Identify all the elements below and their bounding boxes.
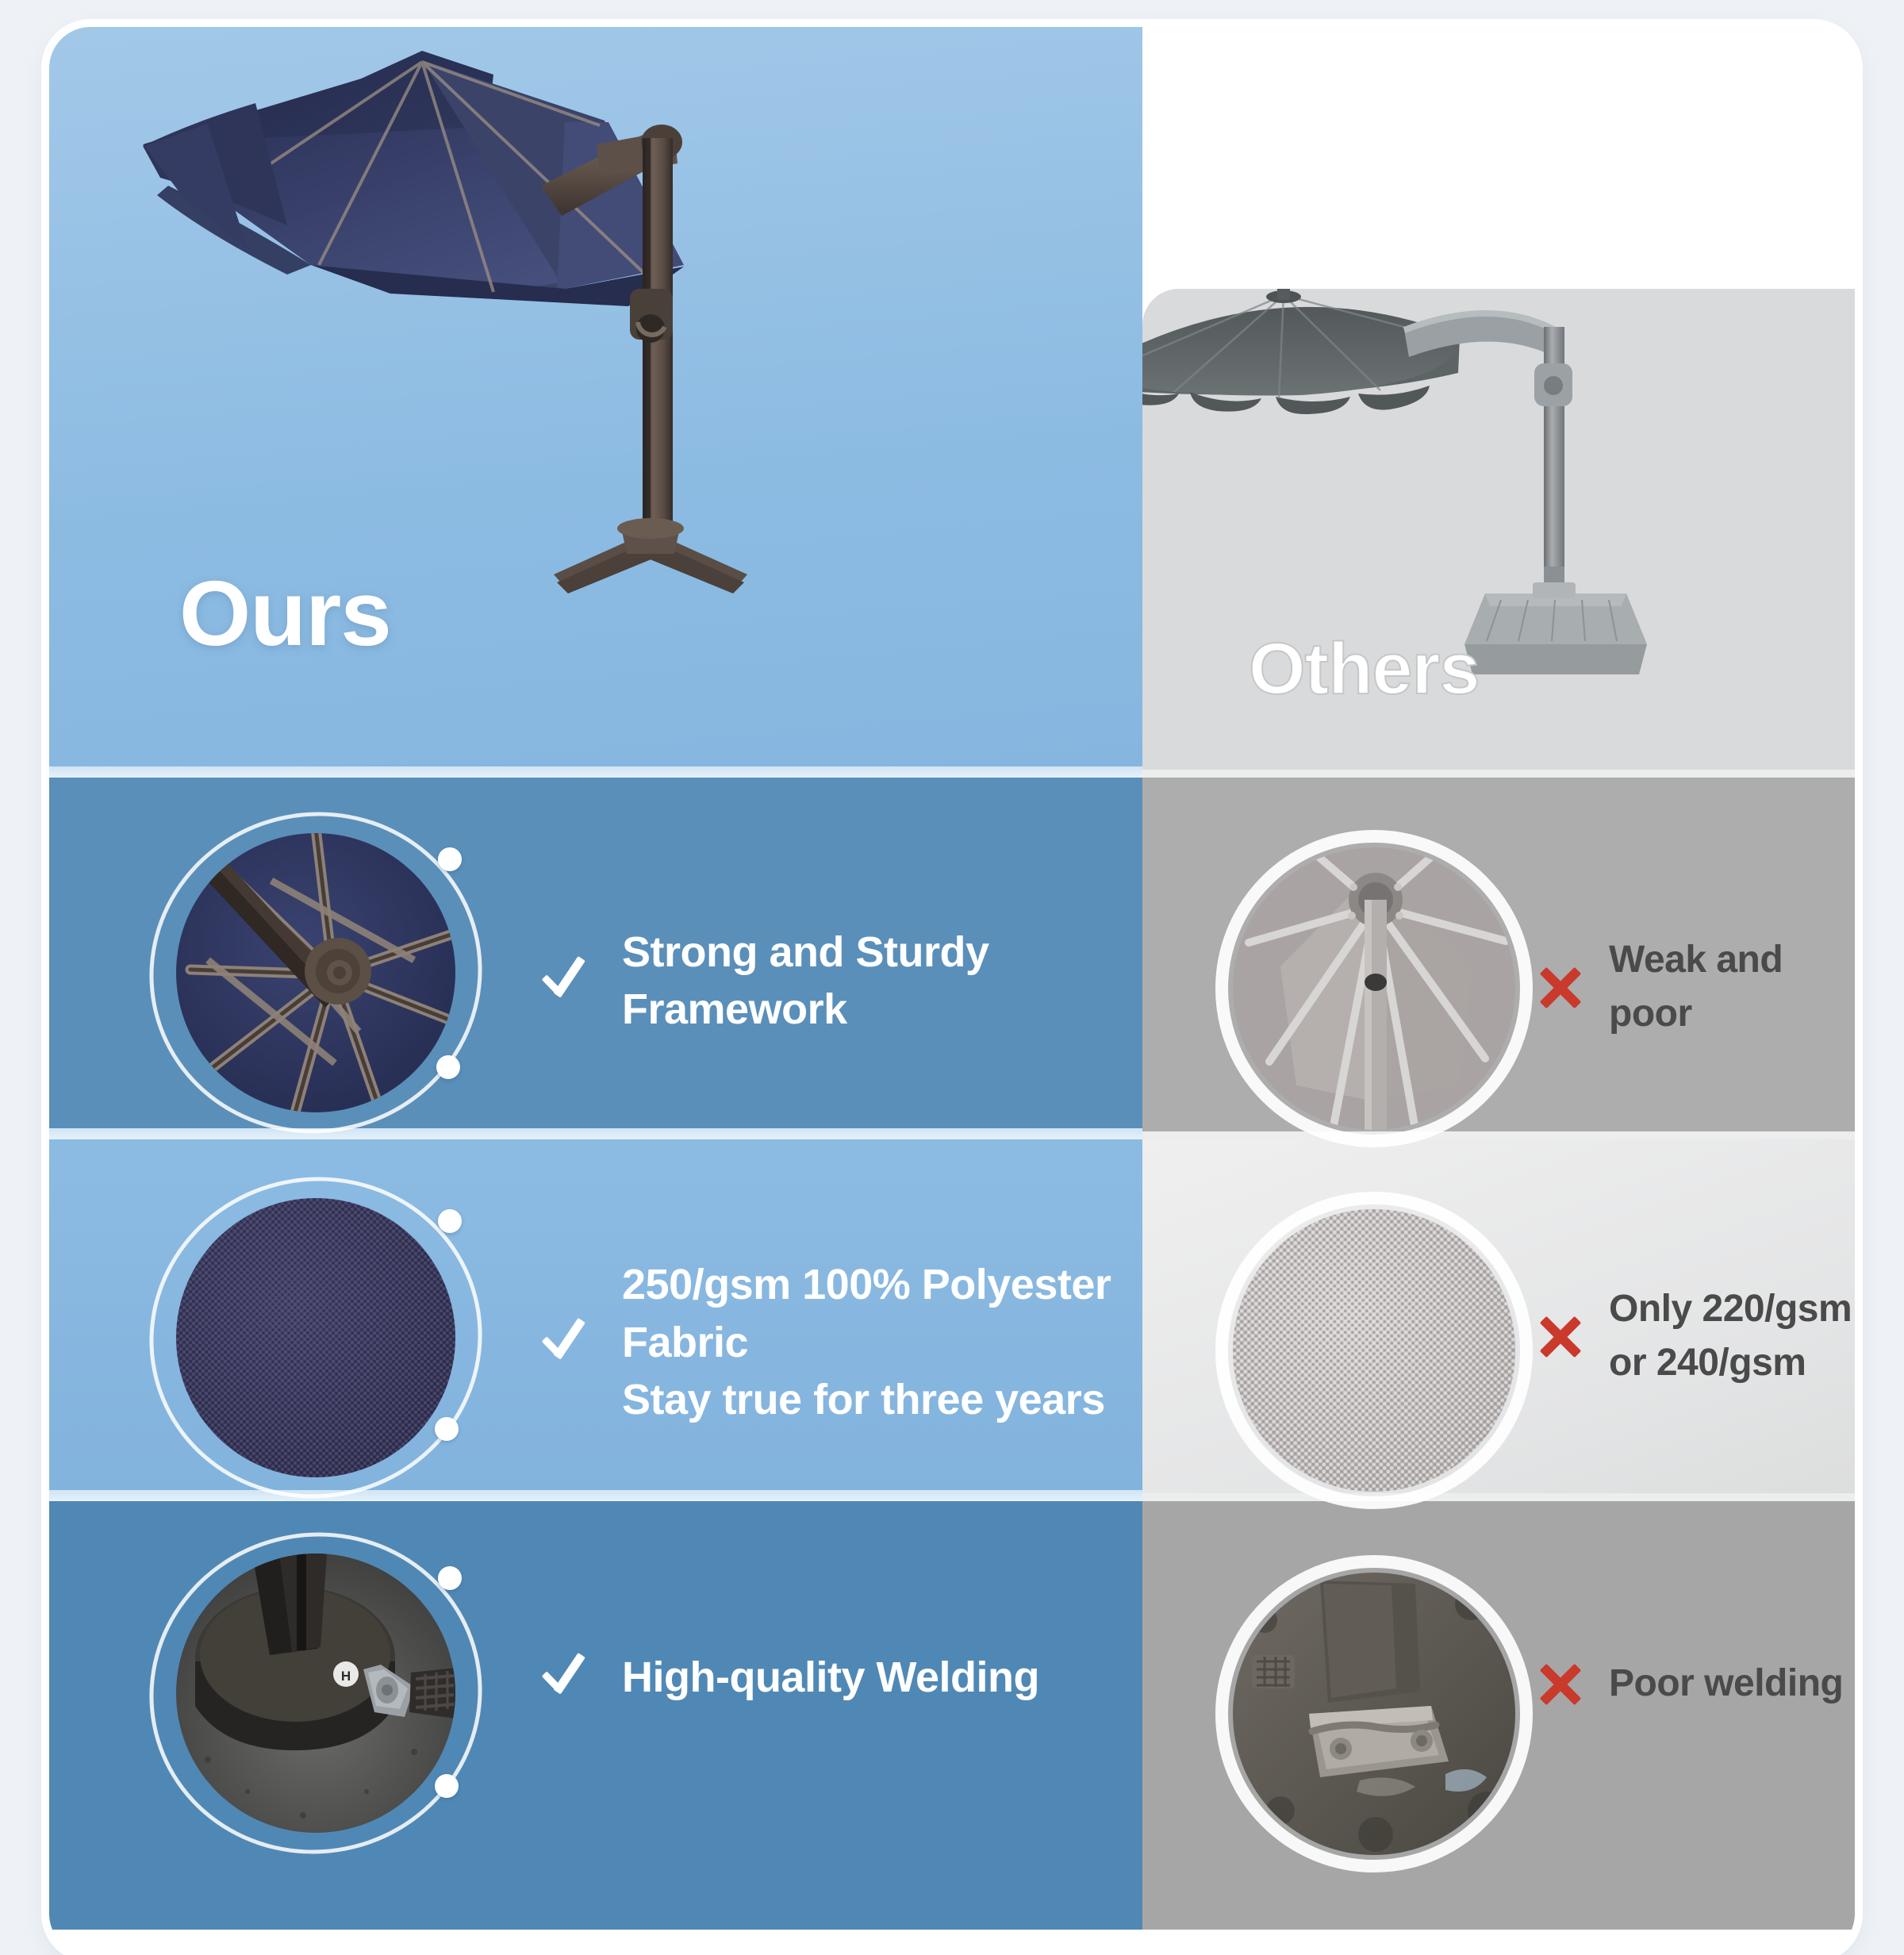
ours-fabric-image <box>149 1177 482 1498</box>
ring-dot <box>438 1566 462 1590</box>
page-title-others: Others <box>1249 628 1480 711</box>
check-icon <box>533 1643 601 1711</box>
check-icon <box>533 1308 601 1377</box>
decorative-ring <box>1215 1192 1533 1509</box>
check-icon <box>533 947 601 1015</box>
decorative-ring <box>1215 1555 1533 1872</box>
ours-welding-feature: High-quality Welding <box>533 1622 1136 1733</box>
others-framework-label: Weak and poor <box>1609 933 1783 1041</box>
others-fabric-feature: Only 220/gsm or 240/gsm <box>1533 1249 1855 1423</box>
ring-dot <box>435 1417 459 1441</box>
ours-fabric-label: 250/gsm 100% Polyester Fabric Stay true … <box>622 1256 1111 1428</box>
ours-framework-label: Strong and Sturdy Framework <box>622 924 989 1039</box>
others-welding-label: Poor welding <box>1609 1657 1843 1711</box>
ours-framework-image <box>149 812 482 1133</box>
ring-dot <box>438 1209 462 1233</box>
others-fabric-image <box>1215 1192 1533 1509</box>
ring-dot <box>435 1774 459 1798</box>
page-title-ours: Ours <box>179 560 391 666</box>
comparison-card: Strong and Sturdy Framework <box>49 27 1855 1955</box>
ours-welding-label: High-quality Welding <box>622 1649 1039 1706</box>
ours-fabric-feature: 250/gsm 100% Polyester Fabric Stay true … <box>533 1223 1152 1461</box>
ring-dot <box>438 847 462 871</box>
decorative-ring <box>115 1497 516 1889</box>
ring-dot <box>436 1055 460 1079</box>
ours-framework-feature: Strong and Sturdy Framework <box>533 878 1088 1084</box>
others-fabric-label: Only 220/gsm or 240/gsm <box>1609 1282 1852 1390</box>
others-framework-feature: Weak and poor <box>1533 900 1855 1074</box>
others-framework-image <box>1215 830 1533 1147</box>
others-welding-image <box>1215 1555 1533 1872</box>
others-welding-feature: Poor welding <box>1533 1628 1855 1739</box>
cross-icon <box>1533 959 1588 1015</box>
decorative-ring <box>1215 830 1533 1147</box>
decorative-ring <box>115 777 516 1169</box>
ours-welding-image: H <box>149 1533 482 1853</box>
decorative-ring <box>115 1142 516 1534</box>
cross-icon <box>1533 1308 1588 1364</box>
cross-icon <box>1533 1656 1588 1711</box>
